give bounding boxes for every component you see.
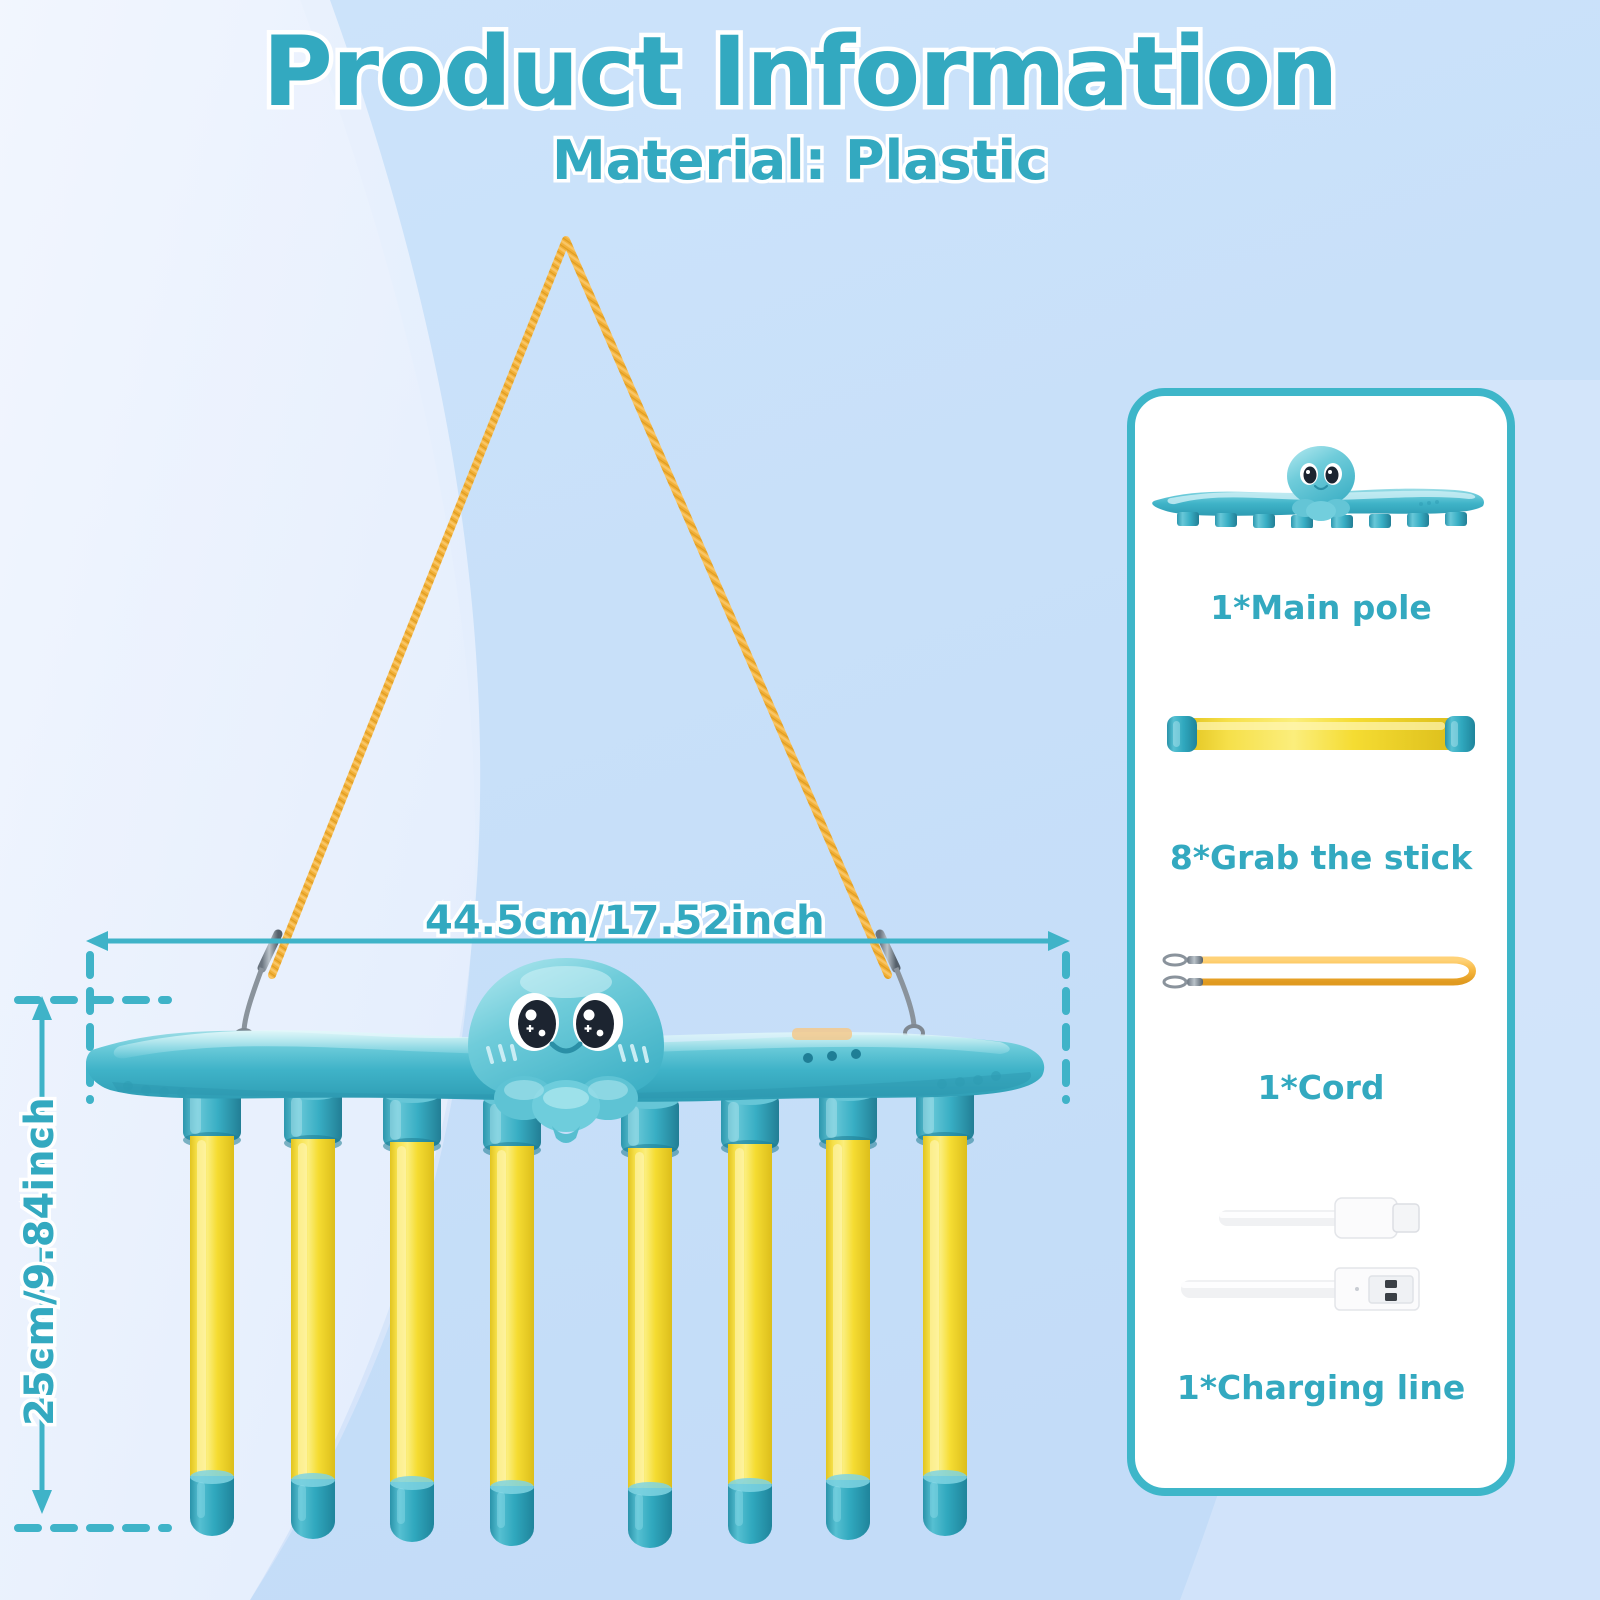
parts-label-charging-line: 1*Charging line [1135,1368,1507,1407]
cord-clip-right [880,934,923,1040]
parts-label-main-pole: 1*Main pole [1135,588,1507,627]
cord-art [1135,936,1507,1006]
main-pole-art [1135,438,1507,528]
grab-stick-art [1135,696,1507,766]
charging-line-art [1135,1176,1507,1336]
usb-a-connector [1181,1268,1419,1310]
label-sticker [792,1028,852,1040]
parts-label-cord: 1*Cord [1135,1068,1507,1107]
usb-c-connector [1219,1198,1419,1238]
cord-clip-left [235,934,278,1044]
grab-sticks [190,1136,967,1548]
parts-label-grab-stick: 8*Grab the stick [1135,838,1507,877]
parts-list-panel: 1*Main pole 8*Grab the stick 1*Cord [1127,388,1515,1496]
product-illustration [0,0,1110,1600]
hanging-cord [272,240,888,975]
